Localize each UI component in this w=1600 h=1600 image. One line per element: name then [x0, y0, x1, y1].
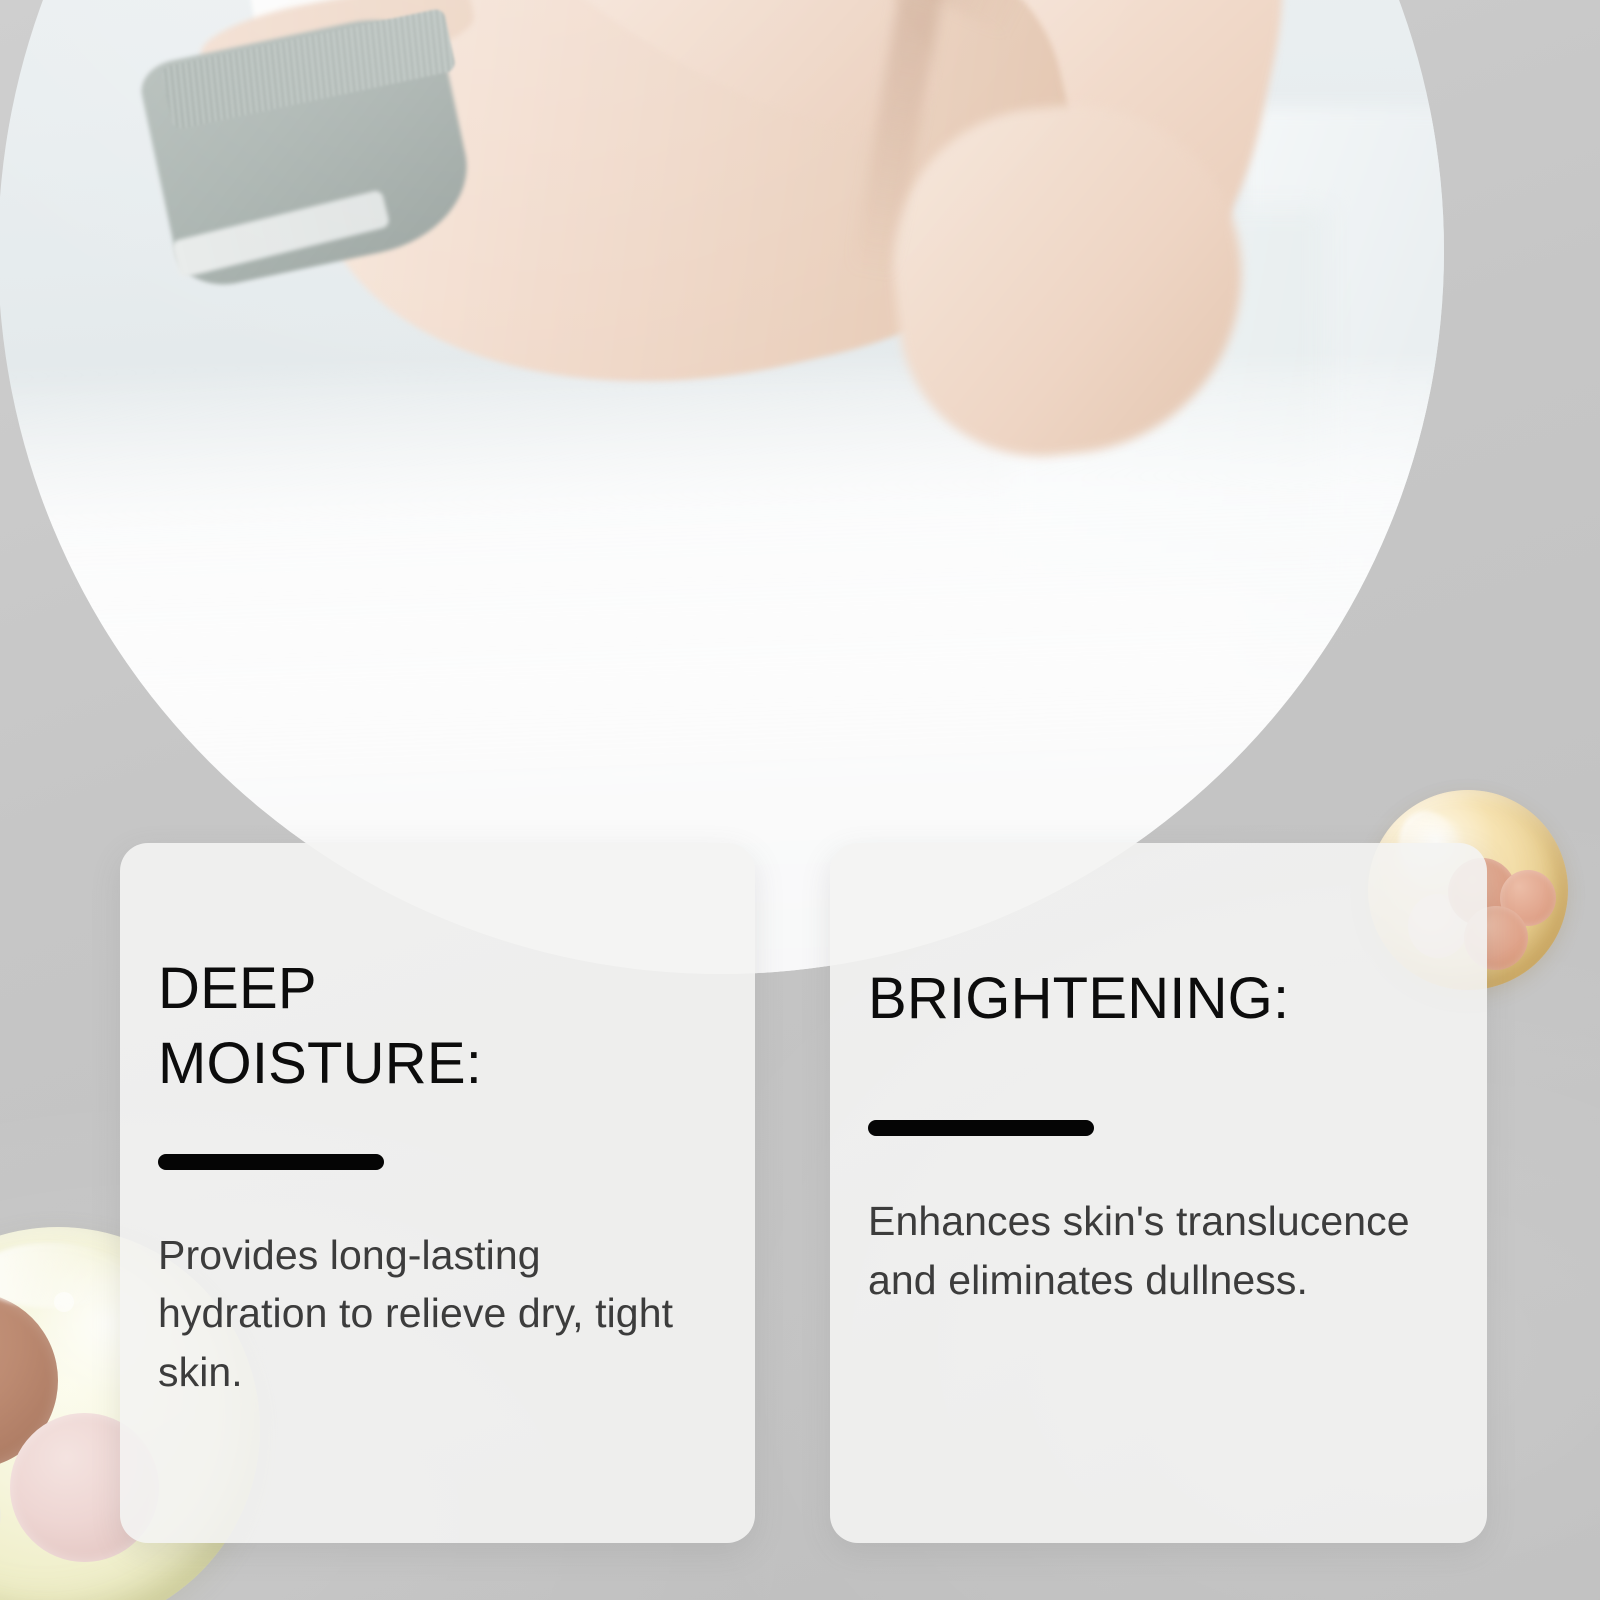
benefit-description: Provides long-lasting hydration to relie…: [158, 1226, 719, 1402]
benefit-description: Enhances skin's translucence and elimina…: [868, 1192, 1447, 1309]
benefit-card-brightening: BRIGHTENING: Enhances skin's translucenc…: [830, 843, 1487, 1543]
benefit-title: BRIGHTENING:: [868, 961, 1447, 1036]
benefit-card-deep-moisture: DEEP MOISTURE: Provides long-lasting hyd…: [120, 843, 755, 1543]
benefit-title: DEEP MOISTURE:: [158, 951, 719, 1102]
hero-photo: [0, 0, 1444, 974]
benefit-card-content: BRIGHTENING: Enhances skin's translucenc…: [830, 961, 1487, 1310]
benefit-divider-bar: [158, 1154, 384, 1170]
benefit-card-content: DEEP MOISTURE: Provides long-lasting hyd…: [120, 951, 755, 1402]
skincare-benefits-graphic: DEEP MOISTURE: Provides long-lasting hyd…: [0, 0, 1600, 1600]
hero-photo-backdrop: [0, 0, 1444, 974]
benefit-divider-bar: [868, 1120, 1094, 1136]
